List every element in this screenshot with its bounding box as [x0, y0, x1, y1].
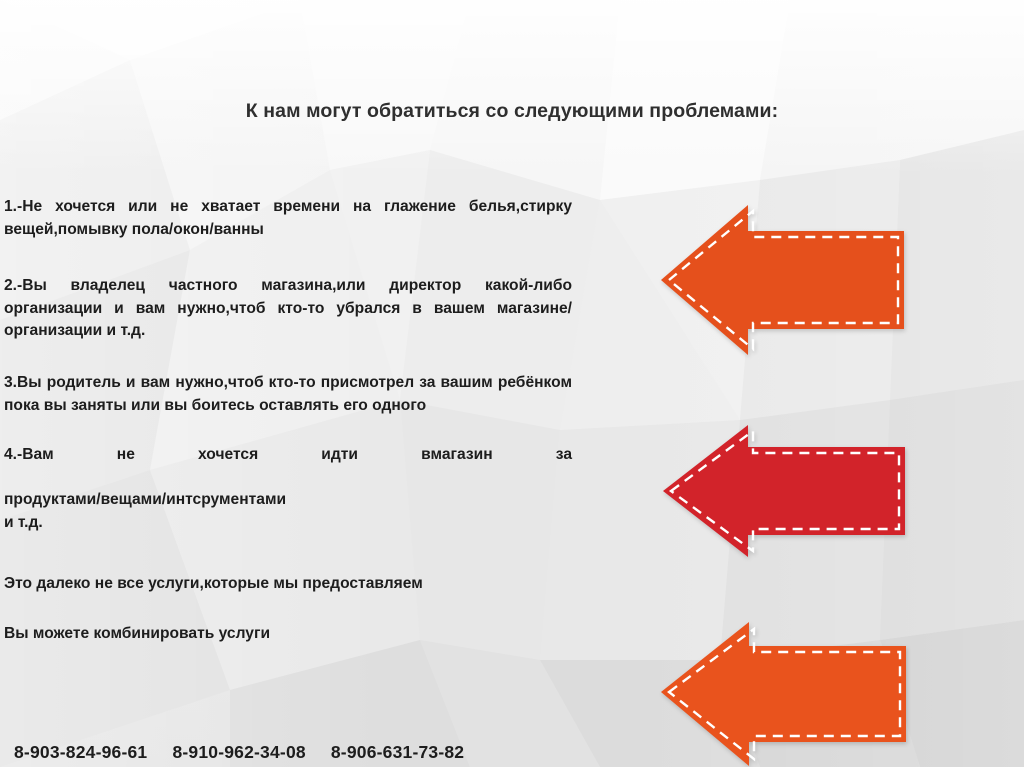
arrow-left-red-middle [660, 420, 910, 562]
spacer [4, 343, 572, 372]
phone-number-1: 8-903-824-96-61 [14, 742, 147, 762]
phone-number-3: 8-906-631-73-82 [331, 742, 464, 762]
arrow-shape [661, 622, 906, 766]
problem-item-4-line-3: и т.д. [4, 512, 572, 535]
problems-list: 1.-Не хочется или не хватает времени на … [4, 196, 572, 646]
spacer [4, 241, 572, 275]
presentation-slide: К нам могут обратиться со следующими про… [0, 0, 1024, 767]
spacer [4, 595, 572, 623]
arrow-left-orange-bottom [658, 620, 910, 767]
problem-item-3: 3.Вы родитель и вам нужно,чтоб кто-то пр… [4, 372, 572, 417]
contact-phone-numbers: 8-903-824-96-61 8-910-962-34-08 8-906-63… [14, 742, 484, 763]
arrow-fill [661, 622, 906, 766]
closing-line-1: Это далеко не все услуги,которые мы пред… [4, 573, 572, 596]
arrow-left-orange-top [658, 200, 910, 360]
phone-number-2: 8-910-962-34-08 [172, 742, 305, 762]
problem-item-2: 2.-Вы владелец частного магазина,или дир… [4, 275, 572, 343]
closing-line-2: Вы можете комбинировать услуги [4, 623, 572, 646]
arrow-fill [663, 425, 905, 557]
spacer [4, 417, 572, 444]
problem-item-4-line-1: 4.-Вам не хочется идти вмагазин за [4, 444, 572, 489]
page-title: К нам могут обратиться со следующими про… [0, 100, 1024, 123]
spacer [4, 535, 572, 573]
arrow-shape [661, 205, 904, 355]
arrow-fill [661, 205, 904, 355]
arrow-shape [663, 425, 905, 557]
problem-item-1: 1.-Не хочется или не хватает времени на … [4, 196, 572, 241]
problem-item-4-line-2: продуктами/вещами/интсрументами [4, 489, 572, 512]
